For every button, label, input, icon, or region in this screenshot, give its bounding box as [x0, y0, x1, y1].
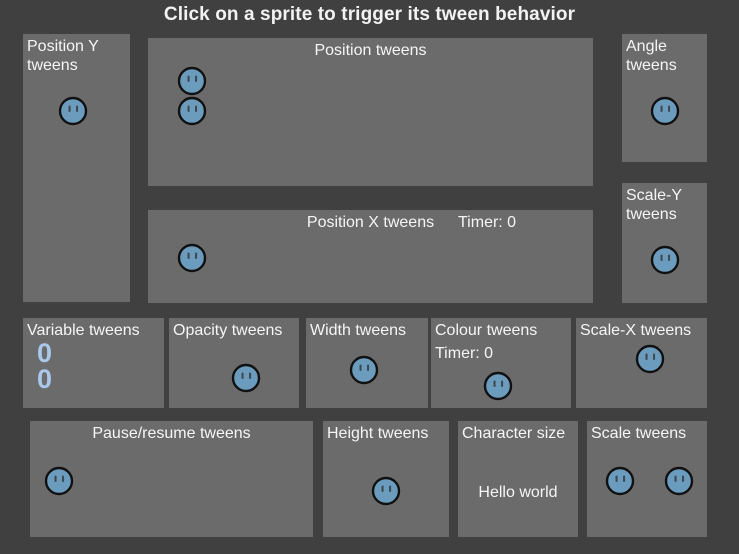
character-size-text[interactable]: Hello world: [458, 483, 578, 502]
timer-label-colour-tweens: Timer: 0: [435, 344, 493, 363]
panel-title-scale-tweens: Scale tweens: [591, 424, 686, 443]
panel-title-position-tweens: Position tweens: [148, 41, 593, 60]
sprite-scale-tweens-1[interactable]: [605, 466, 635, 496]
panel-title-position-y-tweens: Position Y tweens: [27, 37, 99, 75]
panel-variable-tweens[interactable]: Variable tweens00: [23, 318, 164, 408]
page-title: Click on a sprite to trigger its tween b…: [0, 4, 739, 26]
sprite-scale-x-tweens-1[interactable]: [635, 344, 665, 374]
panel-title-opacity-tweens: Opacity tweens: [173, 321, 282, 340]
tween-demo-canvas: Click on a sprite to trigger its tween b…: [0, 0, 739, 554]
sprite-opacity-tweens-1[interactable]: [231, 363, 261, 393]
panel-title-scale-x-tweens: Scale-X tweens: [580, 321, 691, 340]
panel-title-character-size-tweens: Character size: [462, 424, 565, 443]
sprite-width-tweens-1[interactable]: [349, 355, 379, 385]
panel-position-y-tweens[interactable]: Position Y tweens: [23, 34, 130, 302]
sprite-colour-tweens-1[interactable]: [483, 371, 513, 401]
panel-scale-y-tweens[interactable]: Scale-Y tweens: [622, 183, 707, 303]
panel-title-colour-tweens: Colour tweens: [435, 321, 537, 340]
timer-label-position-x-tweens: Timer: 0: [458, 213, 516, 232]
variable-value-1: 0: [37, 340, 52, 366]
panel-position-tweens[interactable]: Position tweens: [148, 38, 593, 186]
variable-value-2: 0: [37, 366, 52, 392]
sprite-height-tweens-1[interactable]: [371, 476, 401, 506]
sprite-position-y-tweens-1[interactable]: [58, 96, 88, 126]
panel-character-size-tweens[interactable]: Character sizeHello world: [458, 421, 578, 537]
sprite-position-tweens-1[interactable]: [177, 66, 207, 96]
sprite-position-tweens-2[interactable]: [177, 96, 207, 126]
sprite-pause-resume-tweens-1[interactable]: [44, 466, 74, 496]
sprite-scale-tweens-2[interactable]: [664, 466, 694, 496]
panel-title-position-x-tweens: Position X tweens: [148, 213, 593, 232]
panel-position-x-tweens[interactable]: Position X tweensTimer: 0: [148, 210, 593, 303]
panel-title-scale-y-tweens: Scale-Y tweens: [626, 186, 682, 224]
panel-title-height-tweens: Height tweens: [327, 424, 428, 443]
sprite-scale-y-tweens-1[interactable]: [650, 245, 680, 275]
panel-title-angle-tweens: Angle tweens: [626, 37, 677, 75]
panel-title-width-tweens: Width tweens: [310, 321, 406, 340]
sprite-position-x-tweens-1[interactable]: [177, 243, 207, 273]
sprite-angle-tweens-1[interactable]: [650, 96, 680, 126]
panel-title-pause-resume-tweens: Pause/resume tweens: [30, 424, 313, 443]
